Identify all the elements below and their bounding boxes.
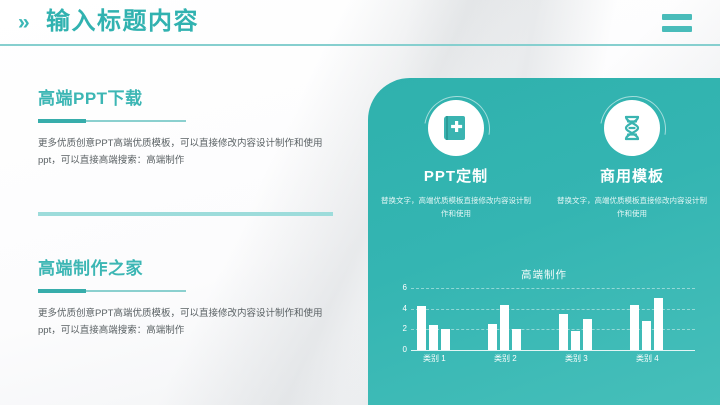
left-block-2-body: 更多优质创意PPT高端优质模板，可以直接修改内容设计制作和使用ppt，可以直接高…	[38, 305, 328, 339]
slide: » 输入标题内容 高端PPT下载 更多优质创意PPT高端优质模板，可以直接修改内…	[0, 0, 720, 405]
feature-item-ppt-custom[interactable]: PPT定制 替换文字，高端优质模板直接修改内容设计制作和使用	[368, 100, 544, 220]
bar	[583, 319, 592, 350]
bar	[571, 331, 580, 350]
left-block-1-title: 高端PPT下载	[38, 88, 338, 110]
bar	[441, 329, 450, 350]
chart-bars	[411, 288, 695, 350]
icon-circle	[428, 100, 484, 156]
double-chevron-right-icon: »	[18, 12, 27, 33]
feature-desc: 替换文字，高端优质模板直接修改内容设计制作和使用	[380, 194, 532, 220]
chart-title: 高端制作	[368, 268, 720, 282]
feature-list: PPT定制 替换文字，高端优质模板直接修改内容设计制作和使用	[368, 100, 720, 220]
accent-thick-line	[38, 289, 86, 293]
y-axis-tick-label: 0	[403, 346, 407, 354]
menu-bar-top	[662, 14, 692, 20]
bar	[559, 314, 568, 350]
bar	[512, 329, 521, 350]
left-block-1-body: 更多优质创意PPT高端优质模板，可以直接修改内容设计制作和使用ppt，可以直接高…	[38, 135, 328, 169]
x-axis-tick-label: 类别 2	[482, 353, 553, 364]
left-block-2: 高端制作之家 更多优质创意PPT高端优质模板，可以直接修改内容设计制作和使用pp…	[38, 258, 338, 339]
bar-chart: 高端制作 0246 类别 1类别 2类别 3类别 4	[368, 268, 720, 388]
x-axis-labels: 类别 1类别 2类别 3类别 4	[411, 353, 695, 364]
x-axis-tick-label: 类别 4	[624, 353, 695, 364]
x-axis-tick-label: 类别 3	[553, 353, 624, 364]
bar	[630, 305, 639, 350]
bar-group	[553, 314, 624, 350]
bar-group	[411, 306, 482, 350]
bar	[429, 325, 438, 350]
feature-panel: PPT定制 替换文字，高端优质模板直接修改内容设计制作和使用	[368, 78, 720, 405]
feature-item-commercial-template[interactable]: 商用模板 替换文字，高端优质模板直接修改内容设计制作和使用	[544, 100, 720, 220]
x-axis-tick-label: 类别 1	[411, 353, 482, 364]
icon-circle	[604, 100, 660, 156]
feature-title: 商用模板	[600, 167, 664, 187]
bar	[500, 305, 509, 350]
x-axis-line	[411, 350, 695, 351]
left-block-2-accent	[38, 289, 186, 293]
y-axis-tick-label: 2	[403, 325, 407, 333]
dna-helix-icon	[619, 114, 645, 142]
left-block-2-title: 高端制作之家	[38, 258, 338, 280]
medical-book-plus-icon	[443, 114, 469, 142]
bar-group	[624, 298, 695, 350]
bar-group	[482, 305, 553, 350]
page-title: 输入标题内容	[46, 7, 199, 37]
y-axis-tick-label: 6	[403, 284, 407, 292]
slide-header: » 输入标题内容	[0, 0, 720, 46]
feature-icon-wrap	[604, 100, 660, 156]
section-divider	[38, 212, 333, 216]
bar	[417, 306, 426, 350]
header-divider	[0, 44, 720, 46]
left-block-1-accent	[38, 119, 186, 123]
bar	[488, 324, 497, 350]
menu-bar-bottom	[662, 26, 692, 32]
y-axis-labels: 0246	[393, 288, 407, 350]
feature-icon-wrap	[428, 100, 484, 156]
feature-title: PPT定制	[424, 167, 488, 187]
accent-thick-line	[38, 119, 86, 123]
hamburger-menu-icon[interactable]	[662, 14, 692, 32]
left-block-1: 高端PPT下载 更多优质创意PPT高端优质模板，可以直接修改内容设计制作和使用p…	[38, 88, 338, 169]
chart-plot-area: 0246 类别 1类别 2类别 3类别 4	[393, 288, 695, 364]
bar	[654, 298, 663, 350]
bar	[642, 321, 651, 350]
y-axis-tick-label: 4	[403, 305, 407, 313]
feature-desc: 替换文字，高端优质模板直接修改内容设计制作和使用	[556, 194, 708, 220]
